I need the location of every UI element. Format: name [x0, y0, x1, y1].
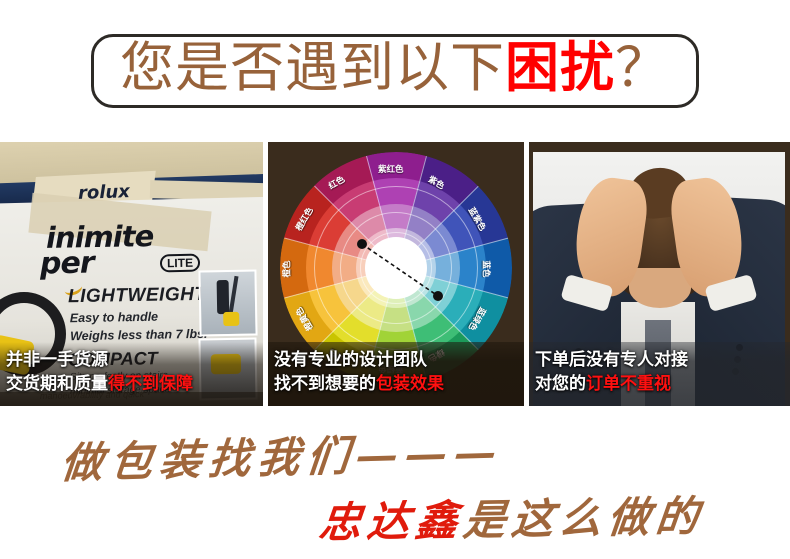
caption-line-1: 并非一手货源 [6, 349, 257, 372]
carton-feature-1-sub2: Weighs less than 7 lbs. [70, 327, 208, 343]
caption-damaged-carton: 并非一手货源 交货期和质量得不到保障 [0, 343, 263, 406]
carton-lite-badge: LITE [160, 254, 200, 273]
caption-line-2-plain: 交货期和质量 [6, 374, 108, 394]
promo-banner: 您是否遇到以下困扰？ rolux inimite per LITE L [0, 0, 790, 559]
caption-line-2: 交货期和质量得不到保障 [6, 373, 257, 396]
caption-line-2: 找不到想要的包装效果 [274, 373, 518, 396]
wheel-label: 紫红色 [378, 163, 404, 175]
thumb-person [217, 280, 230, 314]
caption-line-2: 对您的订单不重视 [535, 373, 784, 396]
carton-brand-line2: per [40, 246, 94, 282]
caption-line-2-plain: 对您的 [535, 374, 586, 394]
slogan-line-2-tail: 是这么做的 [461, 492, 707, 545]
header-box: 您是否遇到以下困扰？ [91, 34, 699, 108]
thumb-vacuum-body [223, 312, 239, 326]
carton-feature-1-sub1: Easy to handle [70, 310, 158, 326]
panel-row: rolux inimite per LITE LIGHTWEIGHT Easy … [0, 142, 790, 406]
carton-brand-strip-text: rolux [78, 181, 131, 204]
caption-color-wheel: 没有专业的设计团队 找不到想要的包装效果 [268, 343, 524, 406]
panel-color-wheel: 紫红色紫色蓝紫色蓝色蓝绿色绿色黄绿色黄色橙黄色橙色橙红色红色 没有专业的设计团队… [268, 142, 524, 406]
panel-damaged-carton: rolux inimite per LITE LIGHTWEIGHT Easy … [0, 142, 263, 406]
header-banner: 您是否遇到以下困扰？ [0, 28, 790, 114]
header-text-before: 您是否遇到以下 [120, 36, 505, 99]
caption-line-1: 没有专业的设计团队 [274, 349, 518, 372]
caption-line-2-red: 包装效果 [376, 374, 444, 394]
header-question-mark: ？ [615, 36, 670, 99]
header-highlight: 困扰 [505, 36, 615, 99]
panel-frustrated-man: 下单后没有专人对接 对您的订单不重视 [529, 142, 790, 406]
forehead [629, 268, 691, 308]
slogan-line-2: 忠达鑫是这么做的 [316, 483, 707, 551]
caption-line-2-red: 得不到保障 [108, 374, 193, 394]
carton-feature-1-sub: Easy to handleWeighs less than 7 lbs. [70, 307, 208, 346]
caption-frustrated-man: 下单后没有专人对接 对您的订单不重视 [529, 343, 790, 406]
carton-thumbnail-upper [198, 269, 257, 336]
slogan-brand-name: 忠达鑫 [317, 496, 466, 548]
wheel-label: 橙色 [281, 260, 293, 277]
caption-line-2-red: 订单不重视 [586, 374, 671, 394]
wheel-divider-circle [360, 232, 432, 304]
caption-line-1: 下单后没有专人对接 [535, 349, 784, 372]
page-title: 您是否遇到以下困扰？ [120, 36, 670, 99]
slogan-line-1: 做包装找我们——— [58, 418, 506, 491]
caption-line-2-plain: 找不到想要的 [274, 374, 376, 394]
carton-feature-1: LIGHTWEIGHT [68, 284, 207, 308]
wheel-label: 蓝色 [481, 260, 493, 277]
